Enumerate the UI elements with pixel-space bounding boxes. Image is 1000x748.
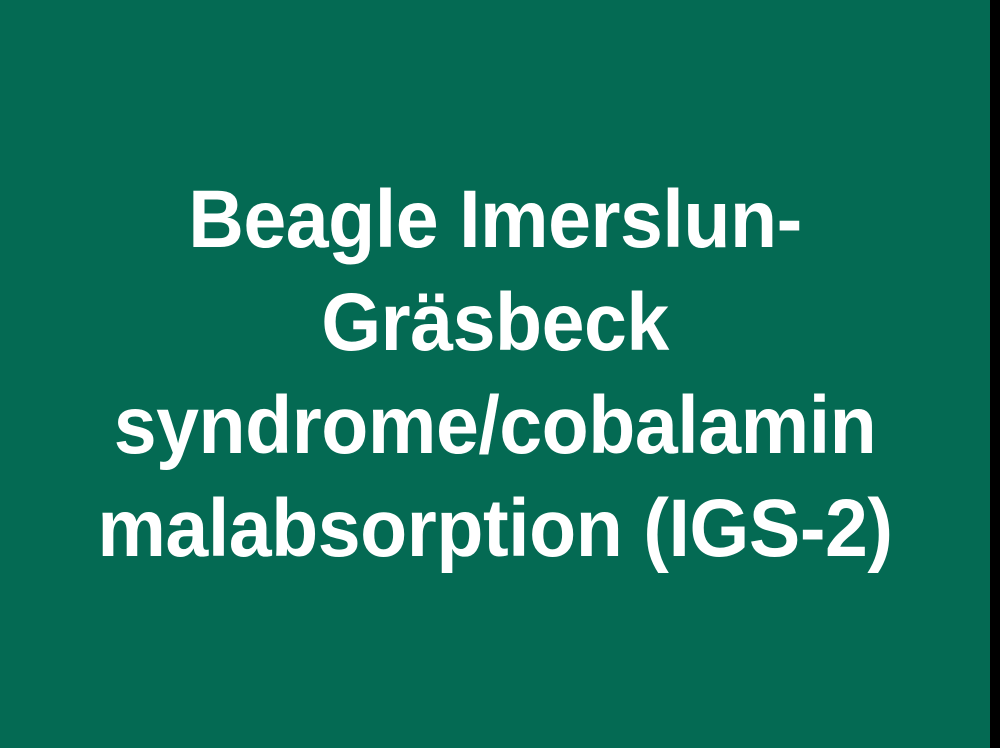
title-slide: Beagle Imerslun- Gräsbeck syndrome/cobal… [0,0,1000,748]
title-line-2: Gräsbeck [30,271,961,374]
slide-background: Beagle Imerslun- Gräsbeck syndrome/cobal… [0,0,990,748]
title-line-3: syndrome/cobalamin [30,374,961,477]
title-line-4: malabsorption (IGS-2) [30,477,961,580]
title-line-1: Beagle Imerslun- [30,168,961,271]
right-edge-strip [990,0,1000,748]
slide-title: Beagle Imerslun- Gräsbeck syndrome/cobal… [0,168,990,580]
